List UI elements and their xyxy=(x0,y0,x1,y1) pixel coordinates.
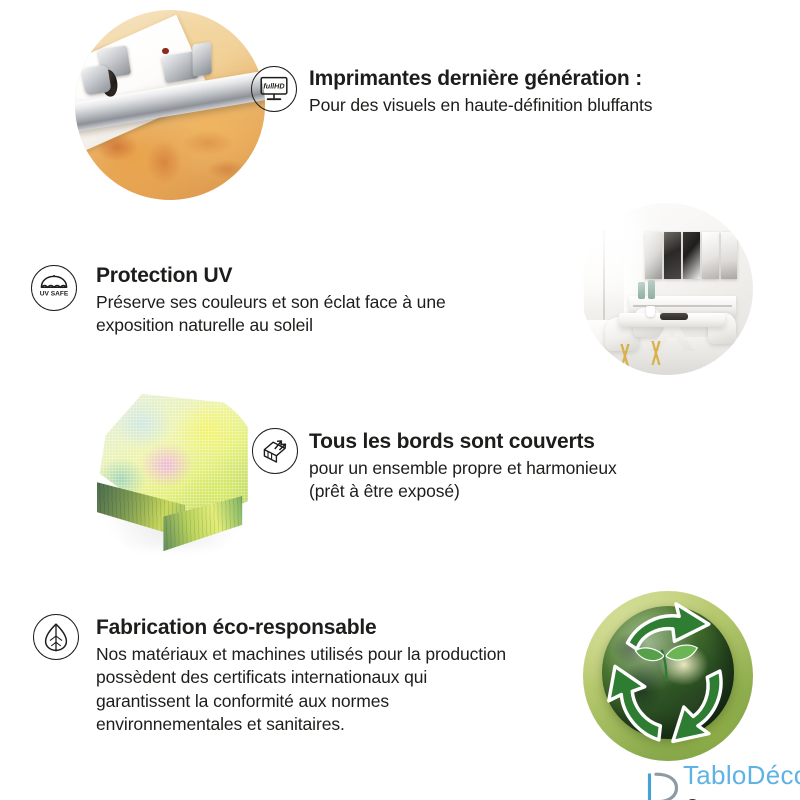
feature-eco-text: Fabrication éco-responsable Nos matériau… xyxy=(96,616,596,736)
canvas-corner-photo xyxy=(86,387,262,563)
infographic-page: fullHD Imprimantes dernière génération :… xyxy=(0,0,800,800)
feature-printers-body: Pour des visuels en haute-définition blu… xyxy=(309,94,729,117)
feature-eco-body: Nos matériaux et machines utilisés pour … xyxy=(96,643,596,736)
feature-eco-title: Fabrication éco-responsable xyxy=(96,616,596,640)
feature-edges-title: Tous les bords sont couverts xyxy=(309,430,729,454)
feature-uv-text: Protection UV Préserve ses couleurs et s… xyxy=(96,264,556,338)
uv-safe-icon-label: UV SAFE xyxy=(40,291,69,298)
eco-globe-photo xyxy=(583,591,753,761)
tablodeco-monogram-icon xyxy=(645,771,683,800)
dining-room-interior-photo xyxy=(581,203,753,375)
feature-printers-text: Imprimantes dernière génération : Pour d… xyxy=(309,67,729,117)
fullhd-monitor-icon: fullHD xyxy=(251,66,297,112)
brand-logo-text: TabloDéco™fr xyxy=(683,762,800,800)
fullhd-icon-label: fullHD xyxy=(263,81,284,90)
leaf-icon xyxy=(33,614,79,660)
brand-name: TabloDéco xyxy=(683,760,800,790)
feature-edges-text: Tous les bords sont couverts pour un ens… xyxy=(309,430,729,504)
feature-edges-body: pour un ensemble propre et harmonieux (p… xyxy=(309,457,729,504)
large-format-printer-photo xyxy=(75,10,265,200)
feature-uv-body: Préserve ses couleurs et son éclat face … xyxy=(96,291,556,338)
uv-safe-umbrella-icon: UV SAFE xyxy=(31,265,77,311)
brand-logo[interactable]: TabloDéco™fr xyxy=(645,762,800,800)
feature-uv-title: Protection UV xyxy=(96,264,556,288)
wrapped-canvas-edge-icon xyxy=(252,428,298,474)
feature-printers-title: Imprimantes dernière génération : xyxy=(309,67,729,91)
